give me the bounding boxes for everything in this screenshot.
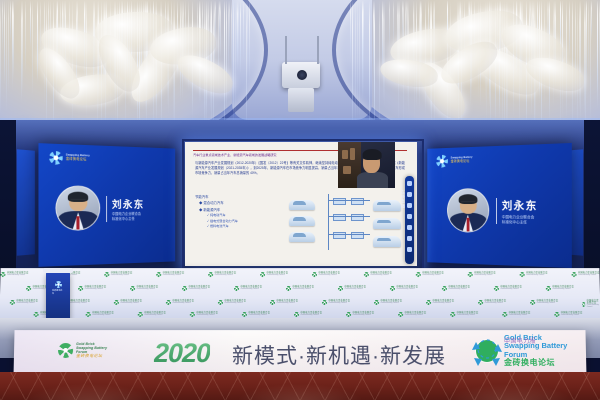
- speaker-name: 刘永东: [112, 196, 145, 211]
- sponsor-logo: 中国电力企业联合会China Electricity Council: [208, 272, 236, 277]
- projector-rod-right: [317, 36, 319, 64]
- sponsor-logo-icon: [138, 312, 143, 317]
- chandelier-strand: [233, 0, 234, 67]
- sponsor-logo: 中国电力企业联合会China Electricity Council: [190, 312, 218, 317]
- sponsor-logo-en: China Electricity Council: [457, 315, 479, 317]
- chandelier-strand: [588, 0, 589, 75]
- sponsor-logo-icon: [190, 312, 195, 317]
- chandelier-strand: [8, 0, 9, 92]
- chandelier-strand: [22, 0, 23, 92]
- sponsor-logo: 中国电力企业联合会China Electricity Council: [426, 300, 454, 305]
- chandelier-strand: [393, 0, 394, 47]
- sponsor-logo: 中国电力企业联合会China Electricity Council: [390, 286, 418, 291]
- sponsor-logo-icon: [390, 286, 395, 291]
- panel-divider: [106, 196, 107, 222]
- sponsor-logo: 中国电力企业联合会China Electricity Council: [322, 300, 350, 305]
- sponsor-logo: 中国电力企业联合会China Electricity Council: [10, 300, 38, 305]
- sponsor-logo-icon: [166, 300, 171, 305]
- banner-logo: Gold Brick Swapping Battery Forum 金砖换电论坛: [58, 343, 107, 359]
- sponsor-logo-en: China Electricity Council: [224, 303, 246, 305]
- sponsor-logo-icon: [208, 272, 213, 277]
- sponsor-logo-en: China Electricity Council: [448, 289, 470, 291]
- panel-logo-cn: 金砖换电论坛: [66, 158, 90, 162]
- chandelier-strand: [566, 0, 567, 119]
- chandelier-strand: [236, 0, 237, 62]
- sponsor-logo-en: China Electricity Council: [144, 315, 166, 317]
- sponsor-logo: 中国电力企业联合会China Electricity Council: [494, 286, 522, 291]
- chandelier-strand: [597, 0, 598, 50]
- sponsor-logo: 中国电力企业联合会China Electricity Council: [0, 272, 28, 277]
- banner-year: 2020: [154, 338, 210, 369]
- chandelier-strand: [37, 0, 38, 83]
- chandelier-strand: [374, 0, 375, 124]
- sponsor-logo: 中国电力企业联合会China Electricity Council: [260, 272, 288, 277]
- sponsor-logo-en: China Electricity Council: [484, 303, 506, 305]
- podium-top: [43, 268, 73, 273]
- sponsor-logo: 中国电力企业联合会China Electricity Council: [294, 312, 322, 317]
- chandelier-strand: [352, 0, 353, 136]
- sponsor-logo: 中国电力企业联合会China Electricity Council: [104, 272, 132, 277]
- sponsor-logo: 中国电力企业联合会China Electricity Council: [218, 300, 246, 305]
- sponsor-logo: 中国电力企业联合会China Electricity Council: [582, 300, 600, 308]
- chandelier-strand: [0, 0, 1, 114]
- sponsor-logo-en: China Electricity Council: [561, 315, 583, 317]
- sponsor-logo: 中国电力企业联合会China Electricity Council: [546, 286, 574, 291]
- chandelier-strand: [569, 0, 570, 59]
- avatar: [447, 188, 489, 233]
- chandelier-strand: [215, 0, 216, 40]
- sponsor-logo: 中国电力企业联合会China Electricity Council: [114, 300, 142, 305]
- chandelier-strand: [580, 0, 581, 61]
- chandelier-strand: [228, 0, 229, 74]
- sponsor-logo-icon: [156, 272, 161, 277]
- sponsor-logo: 中国电力企业联合会China Electricity Council: [554, 312, 582, 317]
- sponsor-logo-en: China Electricity Council: [328, 303, 350, 305]
- sponsor-logo: 中国电力企业联合会China Electricity Council: [286, 286, 314, 291]
- sponsor-logo-en: China Electricity Council: [474, 275, 496, 277]
- sponsor-logo-icon: [10, 300, 15, 305]
- sponsor-logo: 中国电力企业联合会China Electricity Council: [234, 286, 262, 291]
- chandelier-strand: [237, 0, 238, 70]
- sponsor-logo-icon: [260, 272, 265, 277]
- sponsor-logo: 中国电力企业联合会China Electricity Council: [374, 300, 402, 305]
- chandelier-strand: [226, 0, 227, 53]
- sponsor-logo: 中国电力企业联合会China Electricity Council: [270, 300, 298, 305]
- sponsor-logo-icon: [416, 272, 421, 277]
- sponsor-logo-en: China Electricity Council: [240, 289, 262, 291]
- panel-logo-cn: 金砖换电论坛: [451, 160, 473, 164]
- chandelier-strand: [6, 0, 7, 112]
- sponsor-logo-icon: [398, 312, 403, 317]
- sponsor-logo: 中国电力企业联合会China Electricity Council: [416, 272, 444, 277]
- sponsor-logo: 中国电力企业联合会China Electricity Council: [468, 272, 496, 277]
- sponsor-logo-en: China Electricity Council: [84, 289, 106, 291]
- banner-logo-cn: 金砖换电论坛: [76, 354, 107, 358]
- sponsor-logo-en: China Electricity Council: [196, 315, 218, 317]
- sponsor-logo: 中国电力企业联合会China Electricity Council: [364, 272, 392, 277]
- panel-logo-right: Swapping Battery 金砖换电论坛: [436, 154, 472, 168]
- banner-headline: 新模式·新机遇·新发展: [232, 340, 446, 370]
- panel-logo-left: Swapping Battery 金砖换电论坛: [49, 151, 90, 166]
- sponsor-logo-icon: [234, 286, 239, 291]
- projector-mount: [288, 88, 314, 112]
- sponsor-logo: 中国电力企业联合会China Electricity Council: [502, 312, 530, 317]
- sponsor-logo: 中国电力企业联合会China Electricity Council: [572, 272, 600, 277]
- sponsor-logo-icon: [426, 300, 431, 305]
- sponsor-logo-en: China Electricity Council: [111, 275, 133, 277]
- chandelier-strand: [579, 0, 580, 111]
- sponsor-logo-en: China Electricity Council: [509, 315, 531, 317]
- sponsor-logo-en: China Electricity Council: [266, 275, 288, 277]
- sponsor-logo-icon: [546, 286, 551, 291]
- sponsor-logo-icon: [572, 272, 577, 277]
- carpet-pattern: [0, 372, 600, 400]
- sponsor-logo-en: China Electricity Council: [352, 315, 374, 317]
- podium-logo: 金砖换电论坛: [52, 281, 64, 295]
- chandelier-strand: [32, 0, 33, 96]
- sponsor-logo-icon: [582, 302, 585, 307]
- sponsor-logo-icon: [242, 312, 247, 317]
- chandelier-strand: [30, 0, 31, 48]
- sponsor-logo-en: China Electricity Council: [405, 315, 427, 317]
- sponsor-logo: 中国电力企业联合会China Electricity Council: [86, 312, 114, 317]
- sponsor-logo-en: China Electricity Council: [526, 275, 548, 277]
- sponsor-logo-en: China Electricity Council: [552, 289, 574, 291]
- sponsor-logo-icon: [450, 312, 455, 317]
- side-screen-left: [17, 149, 35, 256]
- sponsor-logo: 中国电力企业联合会China Electricity Council: [530, 300, 558, 305]
- sponsor-logo-icon: [338, 286, 343, 291]
- sponsor-logo: 中国电力企业联合会China Electricity Council: [242, 312, 270, 317]
- stage-front-banner: Gold Brick Swapping Battery Forum 金砖换电论坛…: [13, 330, 586, 378]
- chandelier-strand: [586, 0, 587, 99]
- chandelier-strand: [379, 0, 380, 132]
- chandelier-strand: [362, 0, 363, 70]
- chandelier-strand: [369, 0, 370, 131]
- sponsor-logo-en: China Electricity Council: [292, 289, 314, 291]
- sponsor-logo-icon: [554, 312, 559, 317]
- chandelier-strand: [40, 0, 41, 55]
- chandelier-strand: [384, 0, 385, 107]
- chandelier-strand: [229, 0, 230, 51]
- forum-logo-icon: [58, 343, 73, 358]
- sponsor-logo: 中国电力企业联合会China Electricity Council: [450, 312, 478, 317]
- sponsor-logo-icon: [502, 312, 507, 317]
- sponsor-logo-en: China Electricity Council: [578, 275, 600, 277]
- chandelier-strand: [355, 0, 356, 127]
- sponsor-logo-en: China Electricity Council: [92, 315, 114, 317]
- sponsor-backdrop: 中国电力企业联合会China Electricity Council中国电力企业…: [0, 268, 600, 322]
- sponsor-logo: 中国电力企业联合会China Electricity Council: [78, 286, 106, 291]
- projector-rod-left: [285, 36, 287, 64]
- chandelier-strand: [13, 0, 14, 79]
- chandelier-strand: [243, 0, 244, 60]
- sponsor-logo-en: China Electricity Council: [587, 305, 600, 309]
- speaker-role-line2: 标准化中心主任: [502, 220, 534, 226]
- sponsor-logo-icon: [530, 300, 535, 305]
- speaker-panel-left: Swapping Battery 金砖换电论坛 刘永东 中国电力企业联合会 标准…: [38, 143, 175, 267]
- chandelier-strand: [25, 0, 26, 74]
- sponsor-logo: 中国电力企业联合会China Electricity Council: [346, 312, 374, 317]
- sponsor-logo-en: China Electricity Council: [276, 303, 298, 305]
- sponsor-logo: 中国电力企业联合会China Electricity Council: [312, 272, 340, 277]
- sponsor-logo: 中国电力企业联合会China Electricity Council: [130, 286, 158, 291]
- sponsor-logo-en: China Electricity Council: [68, 303, 90, 305]
- speaker-role: 中国电力企业联合会 标准化中心主任: [112, 212, 141, 222]
- sponsor-logo-icon: [218, 300, 223, 305]
- sponsor-logo-icon: [34, 312, 39, 317]
- forum-logo-icon: [436, 155, 448, 168]
- sponsor-logo-en: China Electricity Council: [537, 303, 559, 305]
- screen-frame: [182, 139, 424, 273]
- chandelier-strand: [590, 0, 591, 124]
- sponsor-logo-en: China Electricity Council: [422, 275, 444, 277]
- sponsor-logo-icon: [26, 286, 31, 291]
- sponsor-logo-icon: [322, 300, 327, 305]
- forum-logo-icon: [49, 151, 63, 165]
- sponsor-logo: 中国电力企业联合会China Electricity Council: [520, 272, 548, 277]
- speaker-role: 中国电力企业联合会 标准化中心主任: [502, 215, 534, 226]
- sponsor-logo-icon: [270, 300, 275, 305]
- sponsor-logo-icon: [86, 312, 91, 317]
- avatar: [55, 185, 100, 231]
- chandelier-strand: [249, 0, 250, 82]
- sponsor-logo: 中国电力企业联合会China Electricity Council: [166, 300, 194, 305]
- sponsor-logo: 中国电力企业联合会China Electricity Council: [478, 300, 506, 305]
- sponsor-logo-icon: [442, 286, 447, 291]
- chandelier-strand: [10, 0, 11, 42]
- sponsor-logo-en: China Electricity Council: [370, 275, 392, 277]
- sponsor-logo-en: China Electricity Council: [500, 289, 522, 291]
- sponsor-logo-icon: [346, 312, 351, 317]
- sponsor-logo-icon: [78, 286, 83, 291]
- sponsor-logo-icon: [520, 272, 525, 277]
- chandelier-strand: [12, 0, 13, 90]
- sponsor-logo: 中国电力企业联合会China Electricity Council: [398, 312, 426, 317]
- sponsor-logo-en: China Electricity Council: [16, 303, 38, 305]
- sponsor-logo-en: China Electricity Council: [136, 289, 158, 291]
- sponsor-logo-icon: [478, 300, 483, 305]
- sponsor-logo-icon: [374, 300, 379, 305]
- sponsor-logo-icon: [0, 272, 5, 277]
- sponsor-logo-grid: 中国电力企业联合会China Electricity Council中国电力企业…: [0, 268, 600, 322]
- sponsor-logo: 中国电力企业联合会China Electricity Council: [182, 286, 210, 291]
- chandelier-strand: [359, 0, 360, 122]
- projector-lens-icon: [297, 70, 307, 80]
- sponsor-logo: 中国电力企业联合会China Electricity Council: [138, 312, 166, 317]
- podium: 金砖换电论坛: [46, 272, 70, 320]
- sponsor-logo-icon: [114, 300, 119, 305]
- speaker-name: 刘永东: [502, 198, 538, 213]
- chandelier-strand: [4, 0, 5, 85]
- chandelier-strand: [220, 0, 221, 61]
- sponsor-logo-en: China Electricity Council: [396, 289, 418, 291]
- sponsor-logo-en: China Electricity Council: [380, 303, 402, 305]
- chandelier-strand: [240, 0, 241, 74]
- sponsor-logo-en: China Electricity Council: [215, 275, 237, 277]
- conference-hall-scene: Swapping Battery 金砖换电论坛 刘永东 中国电力企业联合会 标准…: [0, 0, 600, 400]
- sponsor-logo-en: China Electricity Council: [300, 315, 322, 317]
- sponsor-logo-en: China Electricity Council: [432, 303, 454, 305]
- chandelier-strand: [382, 0, 383, 72]
- sponsor-logo-en: China Electricity Council: [120, 303, 142, 305]
- speaker-role-line2: 标准化中心主任: [112, 217, 141, 222]
- sponsor-logo-en: China Electricity Council: [163, 275, 185, 277]
- podium-logo-text: 金砖换电论坛: [52, 289, 64, 295]
- sponsor-logo-icon: [468, 272, 473, 277]
- sponsor-logo: 中国电力企业联合会China Electricity Council: [442, 286, 470, 291]
- sponsor-logo-icon: [494, 286, 499, 291]
- sponsor-logo: 中国电力企业联合会China Electricity Council: [338, 286, 366, 291]
- sponsor-logo-icon: [104, 272, 109, 277]
- sponsor-logo-en: China Electricity Council: [318, 275, 340, 277]
- carpet: [0, 372, 600, 400]
- sponsor-logo-icon: [364, 272, 369, 277]
- chandelier-strand: [389, 0, 390, 50]
- chandelier-strand: [560, 0, 561, 48]
- speaker-panel-right: Swapping Battery 金砖换电论坛 刘永东 中国电力企业联合会 标准…: [427, 143, 572, 268]
- sponsor-logo: 中国电力企业联合会China Electricity Council: [156, 272, 184, 277]
- chandelier-strand: [2, 0, 3, 53]
- panel-divider: [496, 198, 497, 224]
- sponsor-logo-icon: [294, 312, 299, 317]
- sponsor-logo-icon: [182, 286, 187, 291]
- sponsor-logo-en: China Electricity Council: [188, 289, 210, 291]
- sponsor-logo-en: China Electricity Council: [172, 303, 194, 305]
- sponsor-logo-icon: [130, 286, 135, 291]
- sponsor-logo-icon: [286, 286, 291, 291]
- chandelier-strand: [357, 0, 358, 120]
- sponsor-logo-en: China Electricity Council: [7, 275, 29, 277]
- sponsor-logo-icon: [312, 272, 317, 277]
- forum-logo-icon: [55, 281, 62, 288]
- sponsor-logo-en: China Electricity Council: [344, 289, 366, 291]
- sponsor-logo-en: China Electricity Council: [248, 315, 270, 317]
